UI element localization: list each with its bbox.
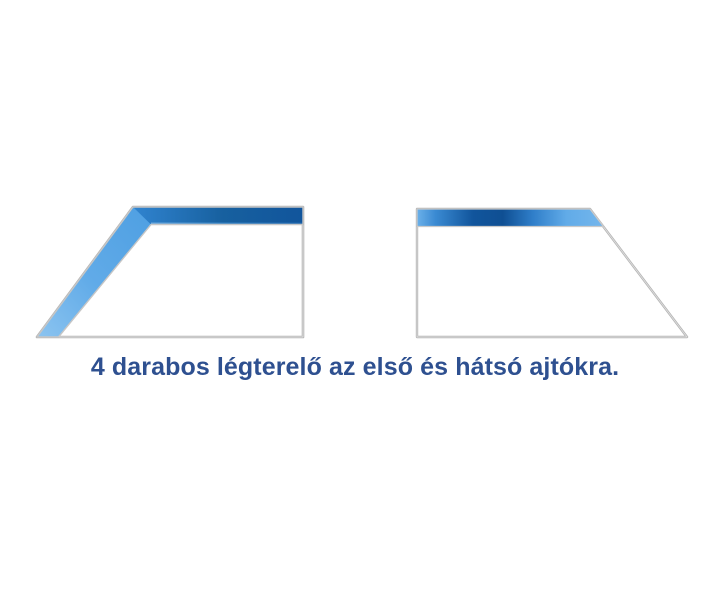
left-window-outline (37, 207, 303, 337)
caption-container: 4 darabos légterelő az első és hátsó ajt… (0, 352, 710, 382)
product-caption: 4 darabos légterelő az első és hátsó ajt… (91, 352, 619, 382)
product-illustration: 4 darabos légterelő az első és hátsó ajt… (0, 0, 710, 613)
left-window-panel (37, 207, 303, 337)
right-deflector-band (417, 209, 604, 227)
window-deflector-diagram (0, 0, 710, 613)
right-window-panel (417, 209, 687, 337)
right-window-outline (417, 209, 687, 337)
